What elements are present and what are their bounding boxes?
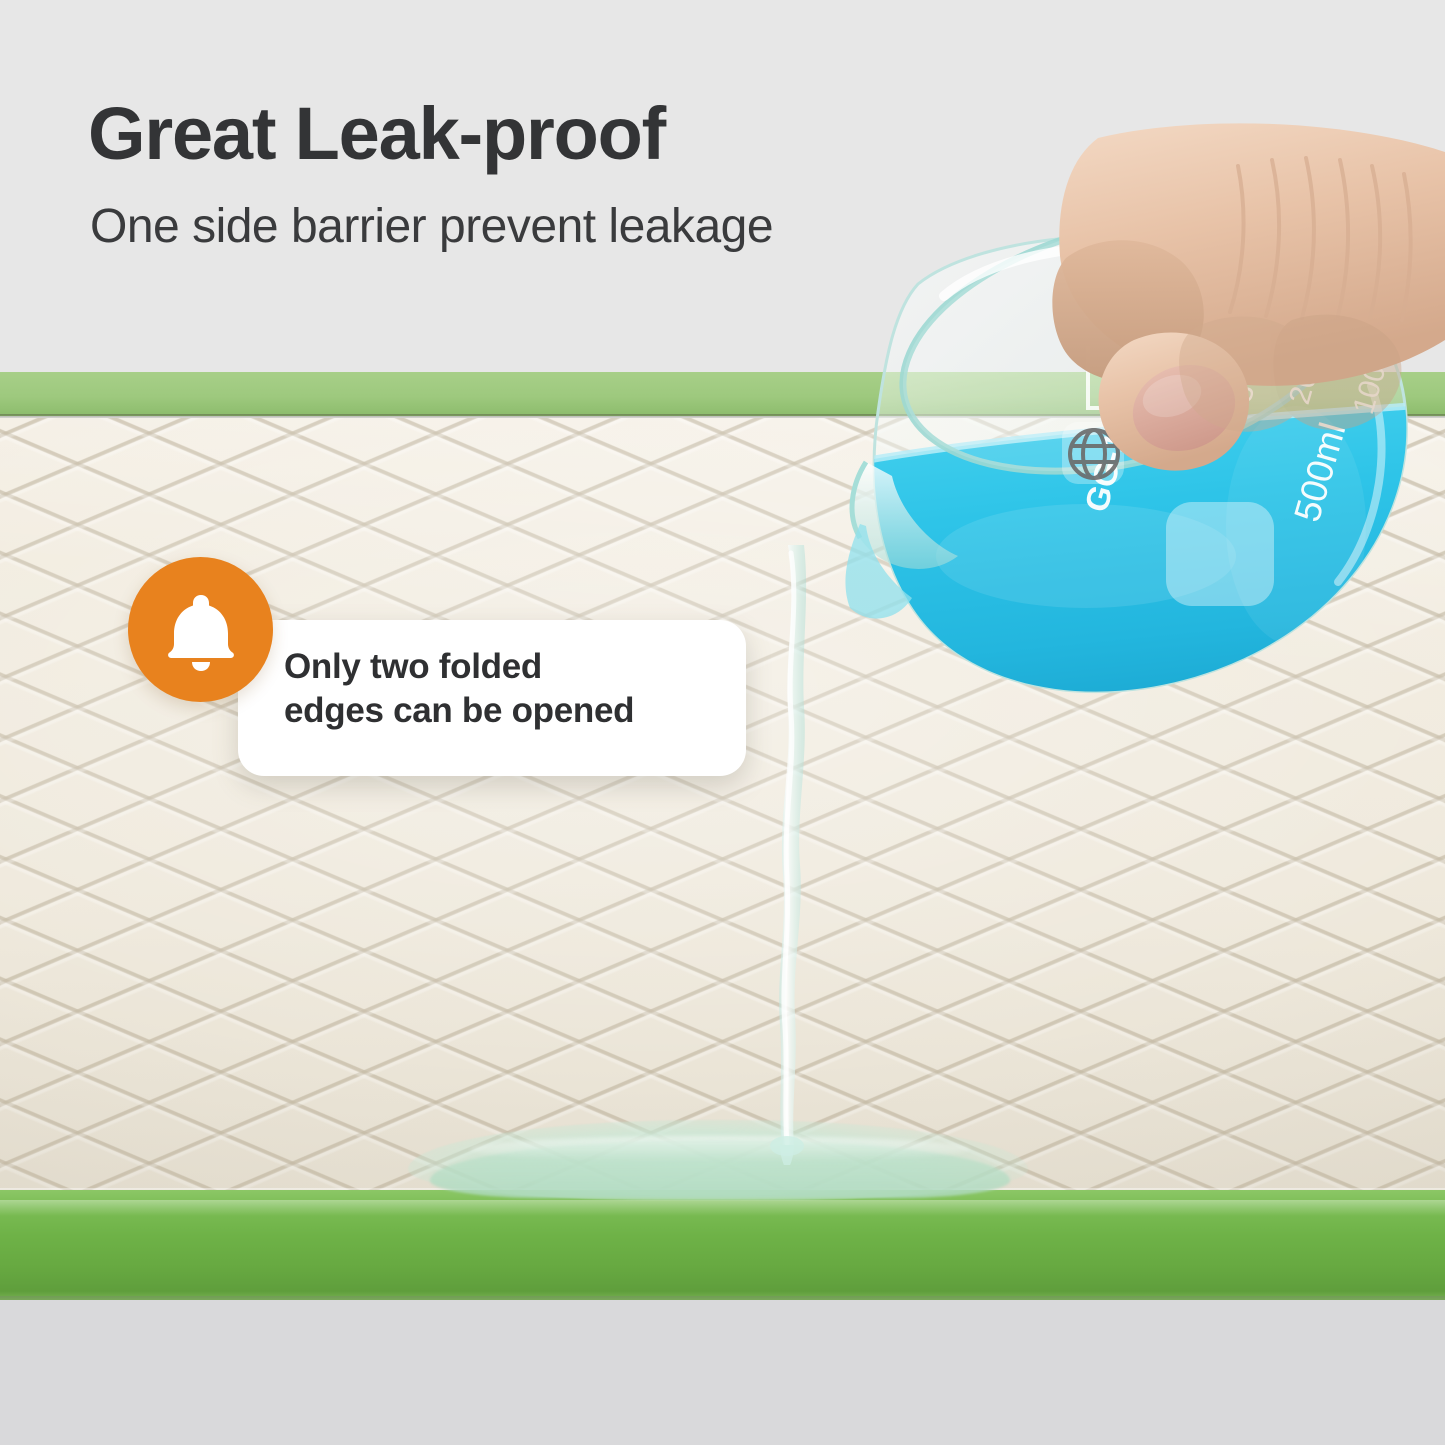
barrier-gloss	[0, 1200, 1445, 1216]
page-subtitle: One side barrier prevent leakage	[90, 199, 773, 254]
bell-icon	[162, 589, 240, 671]
product-feature-image: Great Leak-proof One side barrier preven…	[0, 0, 1445, 1445]
liquid-puddle-sheen	[470, 1136, 970, 1162]
callout-badge	[128, 557, 273, 702]
hand-holding-beaker	[948, 130, 1445, 560]
callout-line-1: Only two folded	[284, 645, 739, 689]
page-title: Great Leak-proof	[88, 97, 665, 171]
water-stream	[758, 545, 820, 1165]
callout-text: Only two folded edges can be opened	[284, 645, 739, 734]
footer-band	[0, 1300, 1445, 1445]
callout-line-2: edges can be opened	[284, 689, 739, 733]
